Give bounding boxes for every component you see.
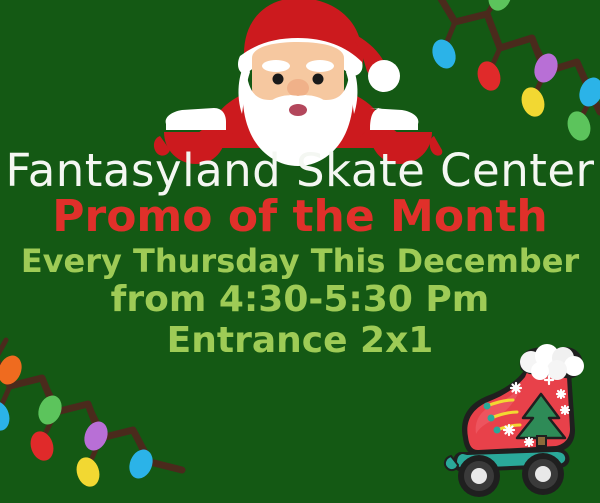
poster-headline: Fantasyland Skate Center — [0, 148, 600, 193]
poster-detail-line-2: from 4:30-5:30 Pm — [0, 282, 600, 318]
santa-mouth — [289, 104, 307, 116]
santa-eyebrow-left — [262, 60, 290, 72]
poster-text-block: Fantasyland Skate Center Promo of the Mo… — [0, 148, 600, 359]
light-wire-top-right — [437, 0, 600, 116]
santa-eye-right — [313, 74, 324, 85]
roller-skate-illustration — [443, 342, 595, 500]
promo-poster: Fantasyland Skate Center Promo of the Mo… — [0, 0, 600, 503]
skate-wheel-rear — [522, 453, 564, 495]
santa-eyebrow-right — [306, 60, 334, 72]
light-wire-bottom-left — [0, 340, 182, 470]
light-bulbs-top-right — [428, 0, 600, 144]
poster-detail-line-1: Every Thursday This December — [0, 245, 600, 277]
santa-eye-left — [273, 74, 284, 85]
santa-nose — [287, 79, 309, 97]
santa-hat-pompom — [368, 60, 400, 92]
poster-subheadline: Promo of the Month — [0, 195, 600, 239]
skate-wheel-front — [458, 455, 500, 497]
light-bulbs-bottom-left — [0, 352, 157, 490]
poster-detail-line-3: Entrance 2x1 — [0, 323, 600, 359]
